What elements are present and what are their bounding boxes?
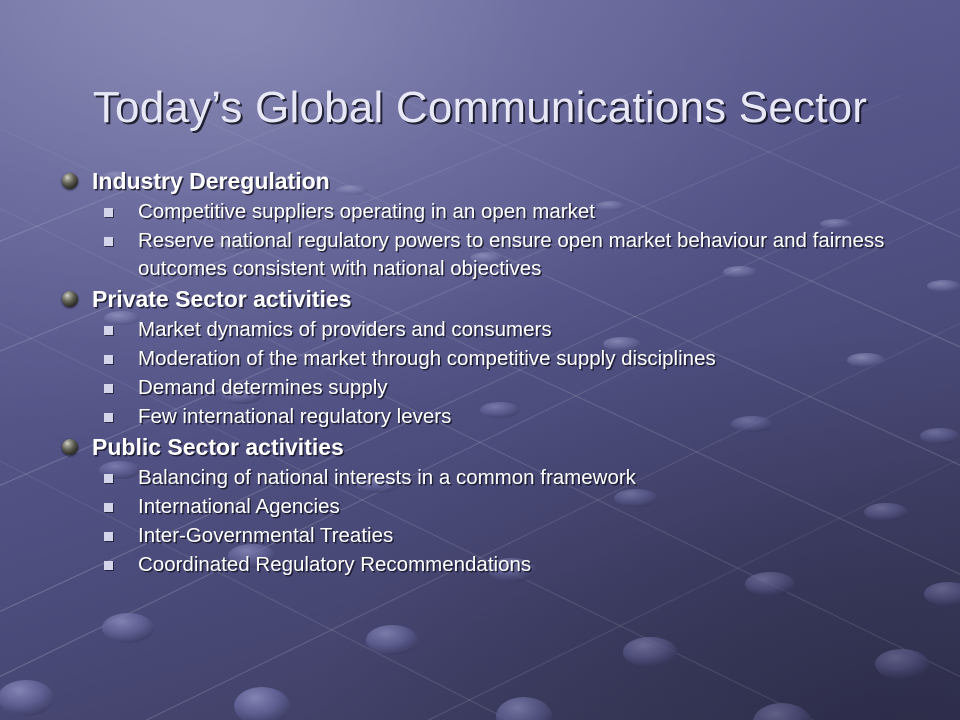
bullet-group: Public Sector activities Balancing of na… <box>56 432 912 579</box>
bullet-level1[interactable]: Industry Deregulation <box>56 166 912 196</box>
sphere-bullet-icon <box>62 173 78 189</box>
bullet-level1[interactable]: Public Sector activities <box>56 432 912 462</box>
slide-body: Industry Deregulation Competitive suppli… <box>56 166 912 580</box>
bullet-level2-label: Reserve national regulatory powers to en… <box>138 227 912 283</box>
square-bullet-icon <box>104 237 113 246</box>
bullet-level2-label: Competitive suppliers operating in an op… <box>138 198 595 226</box>
square-bullet-icon <box>104 503 113 512</box>
bullet-level1-label: Public Sector activities <box>92 432 344 462</box>
bullet-level2-label: Market dynamics of providers and consume… <box>138 316 552 344</box>
bullet-level2-label: Few international regulatory levers <box>138 403 451 431</box>
bullet-level1-label: Private Sector activities <box>92 284 352 314</box>
slide-title: Today’s Global Communications Sector <box>93 85 867 132</box>
bullet-level1[interactable]: Private Sector activities <box>56 284 912 314</box>
square-bullet-icon <box>104 355 113 364</box>
square-bullet-icon <box>104 413 113 422</box>
square-bullet-icon <box>104 384 113 393</box>
bullet-group: Private Sector activities Market dynamic… <box>56 284 912 431</box>
presentation-slide: Today’s Global Communications Sector Ind… <box>0 0 960 720</box>
bullet-level2[interactable]: Reserve national regulatory powers to en… <box>56 227 912 283</box>
square-bullet-icon <box>104 326 113 335</box>
bullet-level2-label: International Agencies <box>138 493 340 521</box>
bullet-level2-label: Inter-Governmental Treaties <box>138 522 393 550</box>
bullet-level2[interactable]: Few international regulatory levers <box>56 403 912 431</box>
bullet-level2[interactable]: Demand determines supply <box>56 374 912 402</box>
bullet-group: Industry Deregulation Competitive suppli… <box>56 166 912 283</box>
bullet-level2[interactable]: Balancing of national interests in a com… <box>56 464 912 492</box>
bullet-level2-label: Moderation of the market through competi… <box>138 345 716 373</box>
slide-title-block: Today’s Global Communications Sector <box>0 56 960 162</box>
square-bullet-icon <box>104 474 113 483</box>
bullet-level2-label: Demand determines supply <box>138 374 388 402</box>
square-bullet-icon <box>104 208 113 217</box>
sphere-bullet-icon <box>62 439 78 455</box>
sphere-bullet-icon <box>62 291 78 307</box>
bullet-level2[interactable]: Inter-Governmental Treaties <box>56 522 912 550</box>
square-bullet-icon <box>104 561 113 570</box>
bullet-level2[interactable]: Moderation of the market through competi… <box>56 345 912 373</box>
square-bullet-icon <box>104 532 113 541</box>
bullet-level2-label: Coordinated Regulatory Recommendations <box>138 551 531 579</box>
bullet-level2[interactable]: Competitive suppliers operating in an op… <box>56 198 912 226</box>
bullet-level2[interactable]: Coordinated Regulatory Recommendations <box>56 551 912 579</box>
bullet-level2-label: Balancing of national interests in a com… <box>138 464 636 492</box>
bullet-level1-label: Industry Deregulation <box>92 166 330 196</box>
bullet-level2[interactable]: International Agencies <box>56 493 912 521</box>
bullet-level2[interactable]: Market dynamics of providers and consume… <box>56 316 912 344</box>
